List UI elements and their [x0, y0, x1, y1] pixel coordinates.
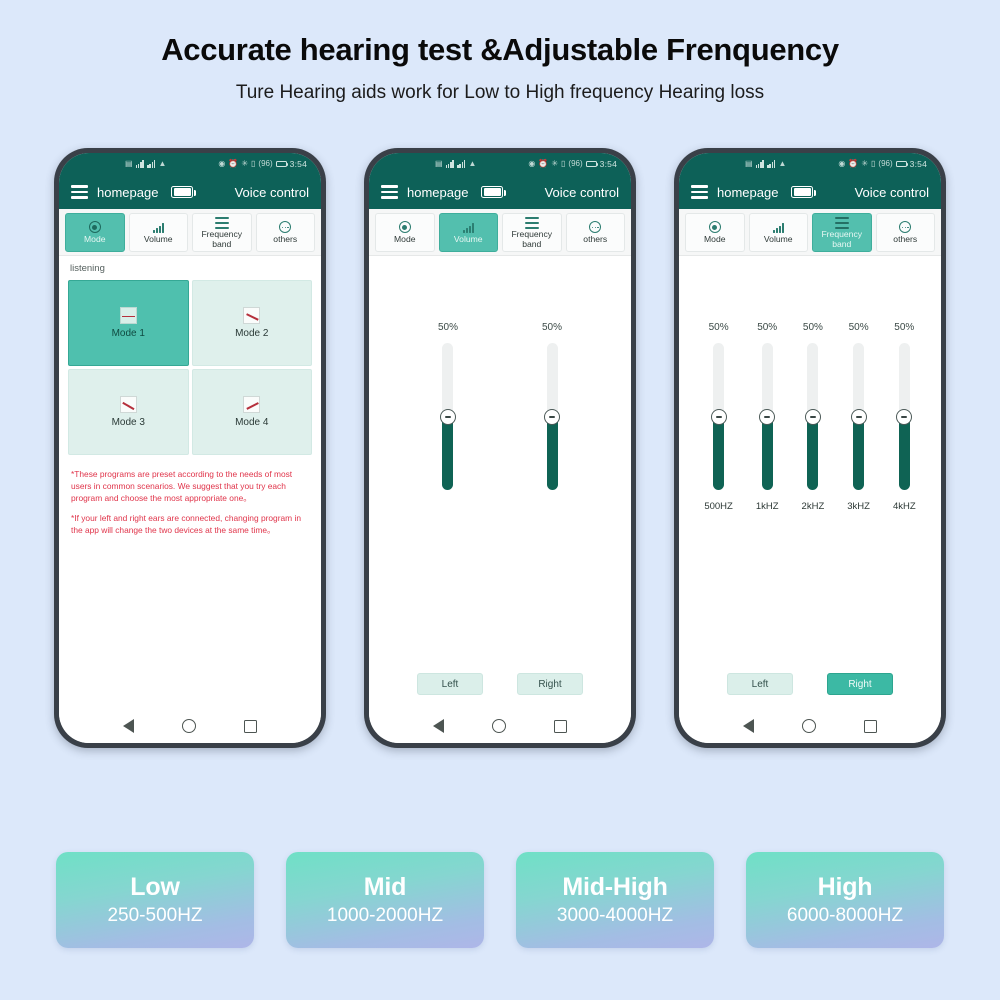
left-right-buttons: Left Right	[679, 673, 941, 695]
battery-full-icon	[481, 186, 503, 198]
tab-volume-label: Volume	[764, 235, 793, 244]
status-time: 3:54	[600, 159, 617, 169]
ellipsis-circle-icon	[589, 221, 601, 234]
left-ear-button[interactable]: Left	[727, 673, 793, 695]
freq-card-mid-high-range: 3000-4000HZ	[557, 905, 673, 927]
freq-slider-4khz-track[interactable]	[899, 343, 910, 490]
tab-mode[interactable]: Mode	[375, 213, 435, 252]
hamburger-menu-icon[interactable]	[381, 185, 398, 199]
mode-card-1-label: Mode 1	[112, 328, 145, 339]
page-headings: Accurate hearing test &Adjustable Frenqu…	[0, 0, 1000, 104]
sim-card-icon: ▤	[745, 160, 753, 168]
freq-slider-2khz-label: 2kHZ	[802, 501, 825, 512]
freq-slider-500hz-value: 50%	[709, 322, 729, 333]
freq-card-low-range: 250-500HZ	[107, 905, 202, 927]
nav-home-icon[interactable]	[802, 719, 816, 733]
android-nav-bar	[369, 709, 631, 743]
frequency-band-screen-body: 50% 500HZ 50% 1kHZ	[679, 256, 941, 709]
tab-bar: Mode Volume Frequency band others	[369, 209, 631, 256]
bluetooth-icon: ✳	[551, 160, 558, 168]
right-ear-button[interactable]: Right	[827, 673, 893, 695]
slider-fill	[713, 417, 724, 491]
freq-slider-3khz-value: 50%	[849, 322, 869, 333]
note-both-ears: *If your left and right ears are connect…	[71, 512, 309, 536]
signal-bars-icon	[446, 160, 454, 168]
freq-card-mid-high-title: Mid-High	[562, 873, 667, 902]
bluetooth-icon: ✳	[241, 160, 248, 168]
tab-bar: Mode Volume Frequency band others	[59, 209, 321, 256]
tab-frequency-band[interactable]: Frequency band	[192, 213, 252, 252]
nav-back-icon[interactable]	[123, 719, 134, 733]
android-nav-bar	[679, 709, 941, 743]
volume-slider-left: 50%	[438, 322, 458, 490]
battery-icon	[586, 161, 597, 167]
alarm-icon: ⏰	[228, 160, 238, 168]
vibrate-icon: ▯	[871, 160, 875, 168]
tab-others[interactable]: others	[876, 213, 936, 252]
freq-slider-500hz-label: 500HZ	[704, 501, 733, 512]
mode-card-2-label: Mode 2	[235, 328, 268, 339]
slider-thumb[interactable]	[440, 409, 456, 425]
voice-control-button[interactable]: Voice control	[235, 185, 309, 200]
battery-full-icon	[171, 186, 193, 198]
hamburger-menu-icon[interactable]	[71, 185, 88, 199]
nav-home-icon[interactable]	[182, 719, 196, 733]
tab-mode-label: Mode	[704, 235, 726, 244]
phone-frequency-band: ▤ ▲ ◉ ⏰ ✳ ▯ (96) 3:54 homepage	[674, 148, 946, 748]
tab-volume[interactable]: Volume	[129, 213, 189, 252]
tab-bar: Mode Volume Frequency band others	[679, 209, 941, 256]
app-bar-title: homepage	[407, 185, 468, 200]
slider-thumb[interactable]	[805, 409, 821, 425]
signal-bars-icon	[457, 160, 465, 168]
tab-mode-label: Mode	[84, 235, 106, 244]
tab-frequency-band-label: Frequency band	[193, 230, 251, 248]
nav-recents-icon[interactable]	[864, 720, 877, 733]
mode-card-3-label: Mode 3	[112, 417, 145, 428]
slider-fill	[807, 417, 818, 491]
phone-volume: ▤ ▲ ◉ ⏰ ✳ ▯ (96) 3:54 homepage	[364, 148, 636, 748]
mode-target-icon	[89, 221, 101, 234]
volume-bars-icon	[153, 221, 164, 234]
tab-mode[interactable]: Mode	[65, 213, 125, 252]
notes-block: *These programs are preset according to …	[59, 455, 321, 536]
freq-slider-4khz-value: 50%	[894, 322, 914, 333]
mode-card-4-label: Mode 4	[235, 417, 268, 428]
volume-slider-right: 50%	[542, 322, 562, 490]
mode-screen-body: listening Mode 1 Mode 2 Mode 3	[59, 256, 321, 709]
freq-slider-3khz-track[interactable]	[853, 343, 864, 490]
left-right-buttons: Left Right	[369, 673, 631, 695]
tab-frequency-band[interactable]: Frequency band	[502, 213, 562, 252]
mode-card-3[interactable]: Mode 3	[68, 369, 189, 455]
freq-card-low: Low 250-500HZ	[56, 852, 254, 948]
equalizer-icon	[525, 216, 539, 229]
vibrate-icon: ▯	[251, 160, 255, 168]
freq-card-high-range: 6000-8000HZ	[787, 905, 903, 927]
tab-volume-label: Volume	[144, 235, 173, 244]
tab-mode-label: Mode	[394, 235, 416, 244]
app-bar: homepage Voice control	[59, 175, 321, 209]
page-title: Accurate hearing test &Adjustable Frenqu…	[0, 32, 1000, 68]
volume-slider-left-track[interactable]	[442, 343, 453, 490]
sim-card-icon: ▤	[435, 160, 443, 168]
tab-others-label: others	[583, 235, 607, 244]
battery-icon	[276, 161, 287, 167]
tab-volume[interactable]: Volume	[749, 213, 809, 252]
volume-screen-body: 50% 50% Left	[369, 256, 631, 709]
freq-card-mid: Mid 1000-2000HZ	[286, 852, 484, 948]
mode-card-4[interactable]: Mode 4	[192, 369, 313, 455]
slider-fill	[762, 417, 773, 491]
slider-thumb[interactable]	[711, 409, 727, 425]
volume-slider-right-track[interactable]	[547, 343, 558, 490]
hamburger-menu-icon[interactable]	[691, 185, 708, 199]
tab-frequency-band-label: Frequency band	[813, 230, 871, 248]
signal-bars-icon	[756, 160, 764, 168]
tab-mode[interactable]: Mode	[685, 213, 745, 252]
volume-sliders: 50% 50%	[369, 256, 631, 709]
mode-card-2[interactable]: Mode 2	[192, 280, 313, 366]
freq-slider-2khz-track[interactable]	[807, 343, 818, 490]
phone-mockups: ▤ ▲ ◉ ⏰ ✳ ▯ (96) 3:54 homepage	[0, 148, 1000, 748]
nav-back-icon[interactable]	[743, 719, 754, 733]
slider-thumb[interactable]	[544, 409, 560, 425]
left-ear-button[interactable]: Left	[417, 673, 483, 695]
slider-fill	[547, 417, 558, 491]
freq-slider-1khz-value: 50%	[757, 322, 777, 333]
battery-icon	[896, 161, 907, 167]
mode-target-icon	[709, 221, 721, 234]
mode-grid: Mode 1 Mode 2 Mode 3 Mode 4	[59, 274, 321, 455]
freq-slider-1khz: 50% 1kHZ	[756, 322, 779, 512]
eye-icon: ◉	[218, 160, 225, 168]
battery-percent-label: (96)	[258, 160, 272, 168]
freq-card-high-title: High	[818, 873, 873, 902]
app-bar: homepage Voice control	[679, 175, 941, 209]
freq-slider-1khz-track[interactable]	[762, 343, 773, 490]
section-label-listening: listening	[59, 256, 321, 274]
tab-others[interactable]: others	[256, 213, 316, 252]
freq-slider-500hz-track[interactable]	[713, 343, 724, 490]
app-bar-title: homepage	[717, 185, 778, 200]
freq-slider-3khz: 50% 3kHZ	[847, 322, 870, 512]
freq-card-high: High 6000-8000HZ	[746, 852, 944, 948]
freq-card-low-title: Low	[130, 873, 179, 902]
signal-bars-icon	[147, 160, 155, 168]
freq-card-mid-title: Mid	[364, 873, 406, 902]
vibrate-icon: ▯	[561, 160, 565, 168]
nav-recents-icon[interactable]	[244, 720, 257, 733]
tab-volume[interactable]: Volume	[439, 213, 499, 252]
phone-mode: ▤ ▲ ◉ ⏰ ✳ ▯ (96) 3:54 homepage	[54, 148, 326, 748]
tab-others[interactable]: others	[566, 213, 626, 252]
freq-slider-500hz: 50% 500HZ	[704, 322, 733, 512]
voice-control-button[interactable]: Voice control	[855, 185, 929, 200]
mode-card-1[interactable]: Mode 1	[68, 280, 189, 366]
equalizer-icon	[835, 216, 849, 229]
wifi-icon: ▲	[158, 160, 166, 168]
freq-slider-1khz-label: 1kHZ	[756, 501, 779, 512]
battery-percent-label: (96)	[878, 160, 892, 168]
eye-icon: ◉	[838, 160, 845, 168]
nav-back-icon[interactable]	[433, 719, 444, 733]
eye-icon: ◉	[528, 160, 535, 168]
curve-flat-icon	[120, 307, 137, 324]
curve-up-icon	[243, 396, 260, 413]
status-bar: ▤ ▲ ◉ ⏰ ✳ ▯ (96) 3:54	[369, 153, 631, 175]
tab-frequency-band[interactable]: Frequency band	[812, 213, 872, 252]
mode-target-icon	[399, 221, 411, 234]
freq-card-mid-range: 1000-2000HZ	[327, 905, 443, 927]
right-ear-button[interactable]: Right	[517, 673, 583, 695]
status-time: 3:54	[290, 159, 307, 169]
nav-home-icon[interactable]	[492, 719, 506, 733]
battery-percent-label: (96)	[568, 160, 582, 168]
slider-thumb[interactable]	[896, 409, 912, 425]
wifi-icon: ▲	[778, 160, 786, 168]
note-presets: *These programs are preset according to …	[71, 468, 309, 505]
nav-recents-icon[interactable]	[554, 720, 567, 733]
frequency-range-cards: Low 250-500HZ Mid 1000-2000HZ Mid-High 3…	[0, 852, 1000, 948]
bluetooth-icon: ✳	[861, 160, 868, 168]
slider-fill	[899, 417, 910, 491]
freq-card-mid-high: Mid-High 3000-4000HZ	[516, 852, 714, 948]
slider-thumb[interactable]	[759, 409, 775, 425]
freq-slider-4khz: 50% 4kHZ	[893, 322, 916, 512]
alarm-icon: ⏰	[538, 160, 548, 168]
signal-bars-icon	[767, 160, 775, 168]
curve-down-steep-icon	[120, 396, 137, 413]
freq-slider-3khz-label: 3kHZ	[847, 501, 870, 512]
slider-thumb[interactable]	[851, 409, 867, 425]
voice-control-button[interactable]: Voice control	[545, 185, 619, 200]
tab-volume-label: Volume	[454, 235, 483, 244]
status-time: 3:54	[910, 159, 927, 169]
freq-slider-2khz: 50% 2kHZ	[802, 322, 825, 512]
slider-fill	[853, 417, 864, 491]
tab-others-label: others	[893, 235, 917, 244]
curve-down-icon	[243, 307, 260, 324]
android-nav-bar	[59, 709, 321, 743]
alarm-icon: ⏰	[848, 160, 858, 168]
equalizer-icon	[215, 216, 229, 229]
volume-bars-icon	[773, 221, 784, 234]
sim-card-icon: ▤	[125, 160, 133, 168]
frequency-sliders: 50% 500HZ 50% 1kHZ	[679, 256, 941, 709]
battery-full-icon	[791, 186, 813, 198]
volume-bars-icon	[463, 221, 474, 234]
ellipsis-circle-icon	[899, 221, 911, 234]
signal-bars-icon	[136, 160, 144, 168]
slider-fill	[442, 417, 453, 491]
freq-slider-2khz-value: 50%	[803, 322, 823, 333]
wifi-icon: ▲	[468, 160, 476, 168]
volume-slider-right-value: 50%	[542, 322, 562, 333]
status-bar: ▤ ▲ ◉ ⏰ ✳ ▯ (96) 3:54	[59, 153, 321, 175]
tab-others-label: others	[273, 235, 297, 244]
app-bar-title: homepage	[97, 185, 158, 200]
tab-frequency-band-label: Frequency band	[503, 230, 561, 248]
app-bar: homepage Voice control	[369, 175, 631, 209]
ellipsis-circle-icon	[279, 221, 291, 234]
freq-slider-4khz-label: 4kHZ	[893, 501, 916, 512]
status-bar: ▤ ▲ ◉ ⏰ ✳ ▯ (96) 3:54	[679, 153, 941, 175]
page-subtitle: Ture Hearing aids work for Low to High f…	[0, 82, 1000, 104]
volume-slider-left-value: 50%	[438, 322, 458, 333]
